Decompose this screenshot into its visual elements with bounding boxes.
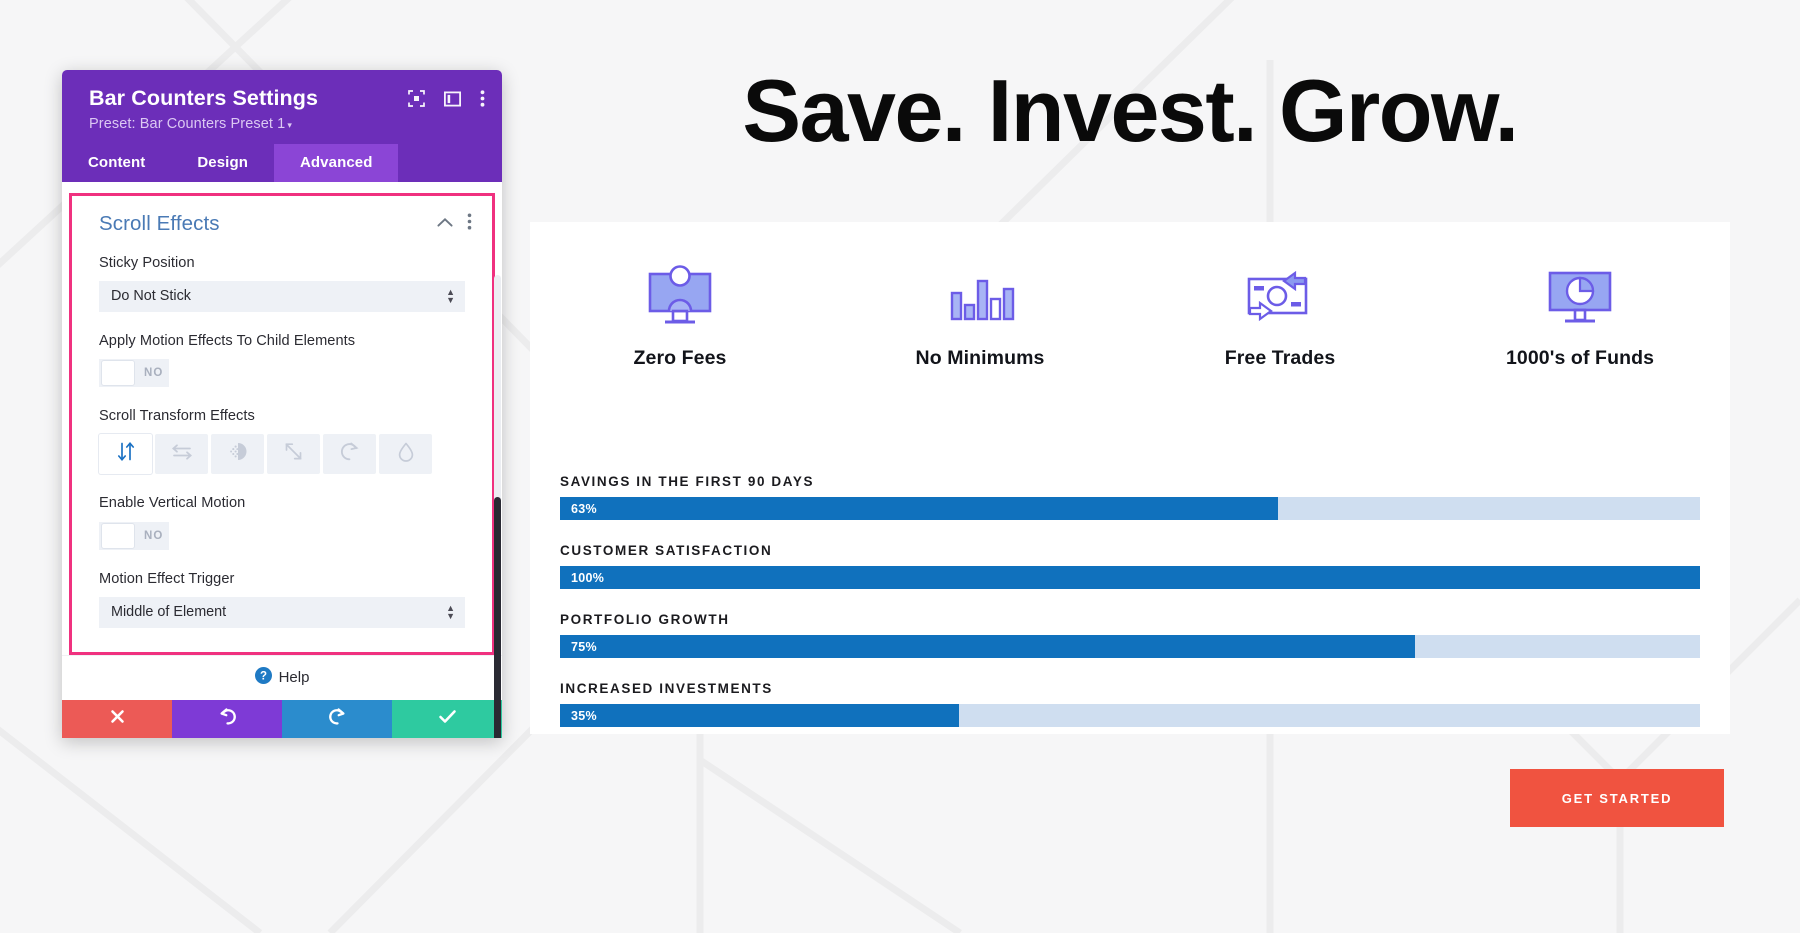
field-apply-motion-child: Apply Motion Effects To Child Elements N…	[72, 332, 492, 387]
toggle-knob	[101, 360, 135, 386]
bar-counter-track: 35%	[560, 704, 1700, 727]
toggle-knob	[101, 523, 135, 549]
rotate-icon	[339, 441, 360, 467]
field-sticky-position: Sticky Position Do Not Stick ▲▼	[72, 254, 492, 312]
more-options-icon[interactable]	[480, 90, 485, 112]
bar-counter-track: 63%	[560, 497, 1700, 520]
redo-button[interactable]	[282, 700, 392, 738]
modal-body: Scroll Effects Sticky Position	[62, 182, 502, 738]
modal-header-actions	[408, 90, 485, 112]
bar-counter-percent: 63%	[560, 502, 597, 516]
select-value: Do Not Stick	[111, 288, 446, 304]
blur-icon	[397, 441, 415, 467]
sticky-position-select[interactable]: Do Not Stick ▲▼	[99, 281, 465, 312]
help-label: Help	[279, 669, 310, 686]
toggle-row: NO	[99, 359, 465, 387]
undo-icon	[218, 707, 237, 731]
enable-vertical-motion-toggle[interactable]: NO	[99, 522, 169, 550]
save-button[interactable]	[392, 700, 502, 738]
modal-scrollbar-thumb[interactable]	[494, 497, 501, 738]
field-scroll-transform-effects: Scroll Transform Effects	[72, 407, 492, 474]
bar-counter-title: INCREASED INVESTMENTS	[560, 681, 1700, 696]
chevron-down-icon: ▾	[287, 120, 292, 130]
bar-counter-fill: 35%	[560, 704, 959, 727]
tab-advanced[interactable]: Advanced	[274, 144, 399, 182]
blur-icon-button[interactable]	[379, 434, 432, 474]
module-settings-modal: Bar Counters Settings Preset: Bar Counte…	[62, 70, 502, 738]
cancel-button[interactable]	[62, 700, 172, 738]
redo-icon	[328, 707, 347, 731]
bar-counter-fill: 100%	[560, 566, 1700, 589]
motion-effect-trigger-select[interactable]: Middle of Element ▲▼	[99, 597, 465, 628]
vertical-motion-icon-button[interactable]	[99, 434, 152, 474]
modal-scrollbar[interactable]	[494, 275, 501, 738]
bar-counter-item: SAVINGS IN THE FIRST 90 DAYS 63%	[560, 474, 1700, 520]
bar-counter-fill: 75%	[560, 635, 1415, 658]
preset-label: Preset: Bar Counters Preset 1	[89, 116, 285, 132]
vertical-motion-icon	[116, 441, 136, 467]
expand-view-icon[interactable]	[408, 90, 425, 112]
money-exchange-icon	[1243, 265, 1317, 327]
monitor-pie-chart-icon	[1543, 265, 1617, 327]
toggle-state-label: NO	[144, 530, 163, 542]
bar-counter-percent: 75%	[560, 640, 597, 654]
toggle-row: NO	[99, 522, 465, 550]
bar-chart-icon	[943, 265, 1017, 327]
bar-counter-title: CUSTOMER SATISFACTION	[560, 543, 1700, 558]
feature-label: Zero Fees	[633, 347, 726, 370]
tab-content[interactable]: Content	[62, 144, 171, 182]
feature-item-zero-fees: Zero Fees	[530, 222, 830, 412]
field-label: Scroll Transform Effects	[99, 407, 465, 426]
field-motion-effect-trigger: Motion Effect Trigger Middle of Element …	[72, 570, 492, 628]
monitor-person-icon	[643, 265, 717, 327]
bar-counter-item: CUSTOMER SATISFACTION 100%	[560, 543, 1700, 589]
feature-label: No Minimums	[916, 347, 1045, 370]
bar-counters-module: SAVINGS IN THE FIRST 90 DAYS 63% CUSTOME…	[530, 412, 1730, 734]
scale-icon	[283, 441, 304, 467]
scroll-effects-group: Scroll Effects Sticky Position	[69, 193, 495, 655]
group-title: Scroll Effects	[99, 212, 423, 236]
question-mark-icon: ?	[255, 667, 272, 689]
modal-header: Bar Counters Settings Preset: Bar Counte…	[62, 70, 502, 144]
page-title: Save. Invest. Grow.	[690, 62, 1570, 161]
bar-counter-track: 100%	[560, 566, 1700, 589]
horizontal-motion-icon	[171, 442, 193, 467]
get-started-button[interactable]: GET STARTED	[1510, 769, 1724, 827]
group-header: Scroll Effects	[72, 212, 492, 236]
feature-label: 1000's of Funds	[1506, 347, 1654, 370]
bar-counter-item: PORTFOLIO GROWTH 75%	[560, 612, 1700, 658]
field-label: Motion Effect Trigger	[99, 570, 465, 589]
more-options-icon[interactable]	[467, 213, 472, 235]
bar-counter-track: 75%	[560, 635, 1700, 658]
field-label: Sticky Position	[99, 254, 465, 273]
field-enable-vertical-motion: Enable Vertical Motion NO	[72, 494, 492, 549]
modal-footer-actions	[62, 700, 502, 738]
help-bar[interactable]: ? Help	[62, 655, 502, 700]
modal-tabs: Content Design Advanced	[62, 144, 502, 182]
bar-counter-title: SAVINGS IN THE FIRST 90 DAYS	[560, 474, 1700, 489]
toggle-state-label: NO	[144, 367, 163, 379]
field-label: Enable Vertical Motion	[99, 494, 465, 513]
scale-icon-button[interactable]	[267, 434, 320, 474]
check-icon	[438, 708, 457, 730]
preset-selector[interactable]: Preset: Bar Counters Preset 1▾	[89, 116, 482, 132]
select-value: Middle of Element	[111, 604, 446, 620]
bar-counter-percent: 35%	[560, 709, 597, 723]
feature-highlights-row: Zero Fees No Minimums	[530, 222, 1730, 412]
fade-icon	[227, 441, 249, 467]
chevron-up-icon[interactable]	[437, 215, 453, 233]
undo-button[interactable]	[172, 700, 282, 738]
fade-icon-button[interactable]	[211, 434, 264, 474]
field-label: Apply Motion Effects To Child Elements	[99, 332, 465, 351]
bar-counter-percent: 100%	[560, 571, 604, 585]
feature-item-no-minimums: No Minimums	[830, 222, 1130, 412]
feature-item-free-trades: Free Trades	[1130, 222, 1430, 412]
bar-counter-fill: 63%	[560, 497, 1278, 520]
close-icon	[109, 708, 126, 730]
split-view-icon[interactable]	[444, 91, 461, 112]
svg-text:?: ?	[260, 671, 267, 683]
bar-counter-item: INCREASED INVESTMENTS 35%	[560, 681, 1700, 727]
scroll-transform-options	[99, 434, 465, 474]
bar-counter-title: PORTFOLIO GROWTH	[560, 612, 1700, 627]
apply-motion-child-toggle[interactable]: NO	[99, 359, 169, 387]
horizontal-motion-icon-button[interactable]	[155, 434, 208, 474]
select-stepper-icon: ▲▼	[446, 604, 455, 620]
select-stepper-icon: ▲▼	[446, 288, 455, 304]
tab-design[interactable]: Design	[171, 144, 274, 182]
feature-label: Free Trades	[1225, 347, 1336, 370]
rotate-icon-button[interactable]	[323, 434, 376, 474]
feature-item-funds: 1000's of Funds	[1430, 222, 1730, 412]
